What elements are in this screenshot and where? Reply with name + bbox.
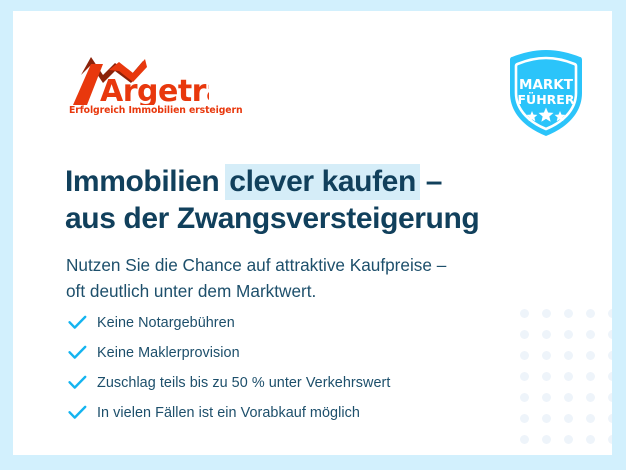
decor-dot xyxy=(586,330,595,339)
argetra-logo[interactable]: Argetra Erfolgreich Immobilien ersteiger… xyxy=(69,53,209,119)
subheadline: Nutzen Sie die Chance auf attraktive Kau… xyxy=(66,252,536,304)
badge-line1: MARKT xyxy=(519,77,574,93)
shield-badge-icon: MARKT FÜHRER xyxy=(500,47,592,139)
list-item-label: Keine Notargebühren xyxy=(97,315,235,331)
logo-tagline: Erfolgreich Immobilien ersteigern xyxy=(69,105,242,116)
decor-dot xyxy=(586,393,595,402)
promo-card: Argetra Erfolgreich Immobilien ersteiger… xyxy=(13,11,612,455)
benefits-list: Keine NotargebührenKeine Maklerprovision… xyxy=(68,308,538,428)
decor-dot xyxy=(542,435,551,444)
argetra-logo-mark: Argetra xyxy=(69,53,209,105)
decor-dot xyxy=(608,351,612,360)
headline-post: – xyxy=(418,165,442,198)
market-leader-badge: MARKT FÜHRER xyxy=(500,47,592,139)
page-title: Immobilien clever kaufen – aus der Zwang… xyxy=(65,164,535,237)
decor-dot xyxy=(564,435,573,444)
decor-dot xyxy=(608,330,612,339)
page-frame: Argetra Erfolgreich Immobilien ersteiger… xyxy=(0,0,626,470)
decor-dot xyxy=(564,351,573,360)
list-item-label: Keine Maklerprovision xyxy=(97,345,240,361)
headline-highlight: clever kaufen xyxy=(225,164,420,200)
decor-dot xyxy=(586,435,595,444)
decor-dot xyxy=(542,393,551,402)
decor-dot xyxy=(542,351,551,360)
decor-dot xyxy=(542,309,551,318)
list-item: Keine Maklerprovision xyxy=(68,338,538,367)
decor-dot xyxy=(542,372,551,381)
decor-dot xyxy=(586,351,595,360)
decor-dot xyxy=(564,393,573,402)
check-icon xyxy=(68,375,97,390)
decor-dot xyxy=(586,372,595,381)
decor-dot xyxy=(608,309,612,318)
decor-dot xyxy=(542,414,551,423)
list-item-label: Zuschlag teils bis zu 50 % unter Verkehr… xyxy=(97,375,390,391)
svg-text:Argetra: Argetra xyxy=(100,74,209,105)
decor-dot xyxy=(608,435,612,444)
check-icon xyxy=(68,405,97,420)
subheadline-line-2: oft deutlich unter dem Marktwert. xyxy=(66,278,536,304)
headline-pre: Immobilien xyxy=(65,165,227,198)
decor-dot xyxy=(564,330,573,339)
headline-line-1: Immobilien clever kaufen – xyxy=(65,164,535,201)
check-icon xyxy=(68,315,97,330)
decor-dot xyxy=(608,414,612,423)
list-item-label: In vielen Fällen ist ein Vorabkauf mögli… xyxy=(97,405,360,421)
decor-dot xyxy=(564,414,573,423)
check-icon xyxy=(68,345,97,360)
subheadline-line-1: Nutzen Sie die Chance auf attraktive Kau… xyxy=(66,252,536,278)
list-item: Keine Notargebühren xyxy=(68,308,538,337)
decor-dot xyxy=(520,435,529,444)
headline-line-2: aus der Zwangsversteigerung xyxy=(65,201,535,238)
decor-dot xyxy=(608,393,612,402)
decor-dot xyxy=(608,372,612,381)
decor-dot xyxy=(586,414,595,423)
decor-dot xyxy=(564,372,573,381)
decor-dot xyxy=(586,309,595,318)
list-item: In vielen Fällen ist ein Vorabkauf mögli… xyxy=(68,398,538,427)
badge-line2: FÜHRER xyxy=(518,92,575,107)
list-item: Zuschlag teils bis zu 50 % unter Verkehr… xyxy=(68,368,538,397)
decor-dot xyxy=(542,330,551,339)
decor-dot xyxy=(564,309,573,318)
